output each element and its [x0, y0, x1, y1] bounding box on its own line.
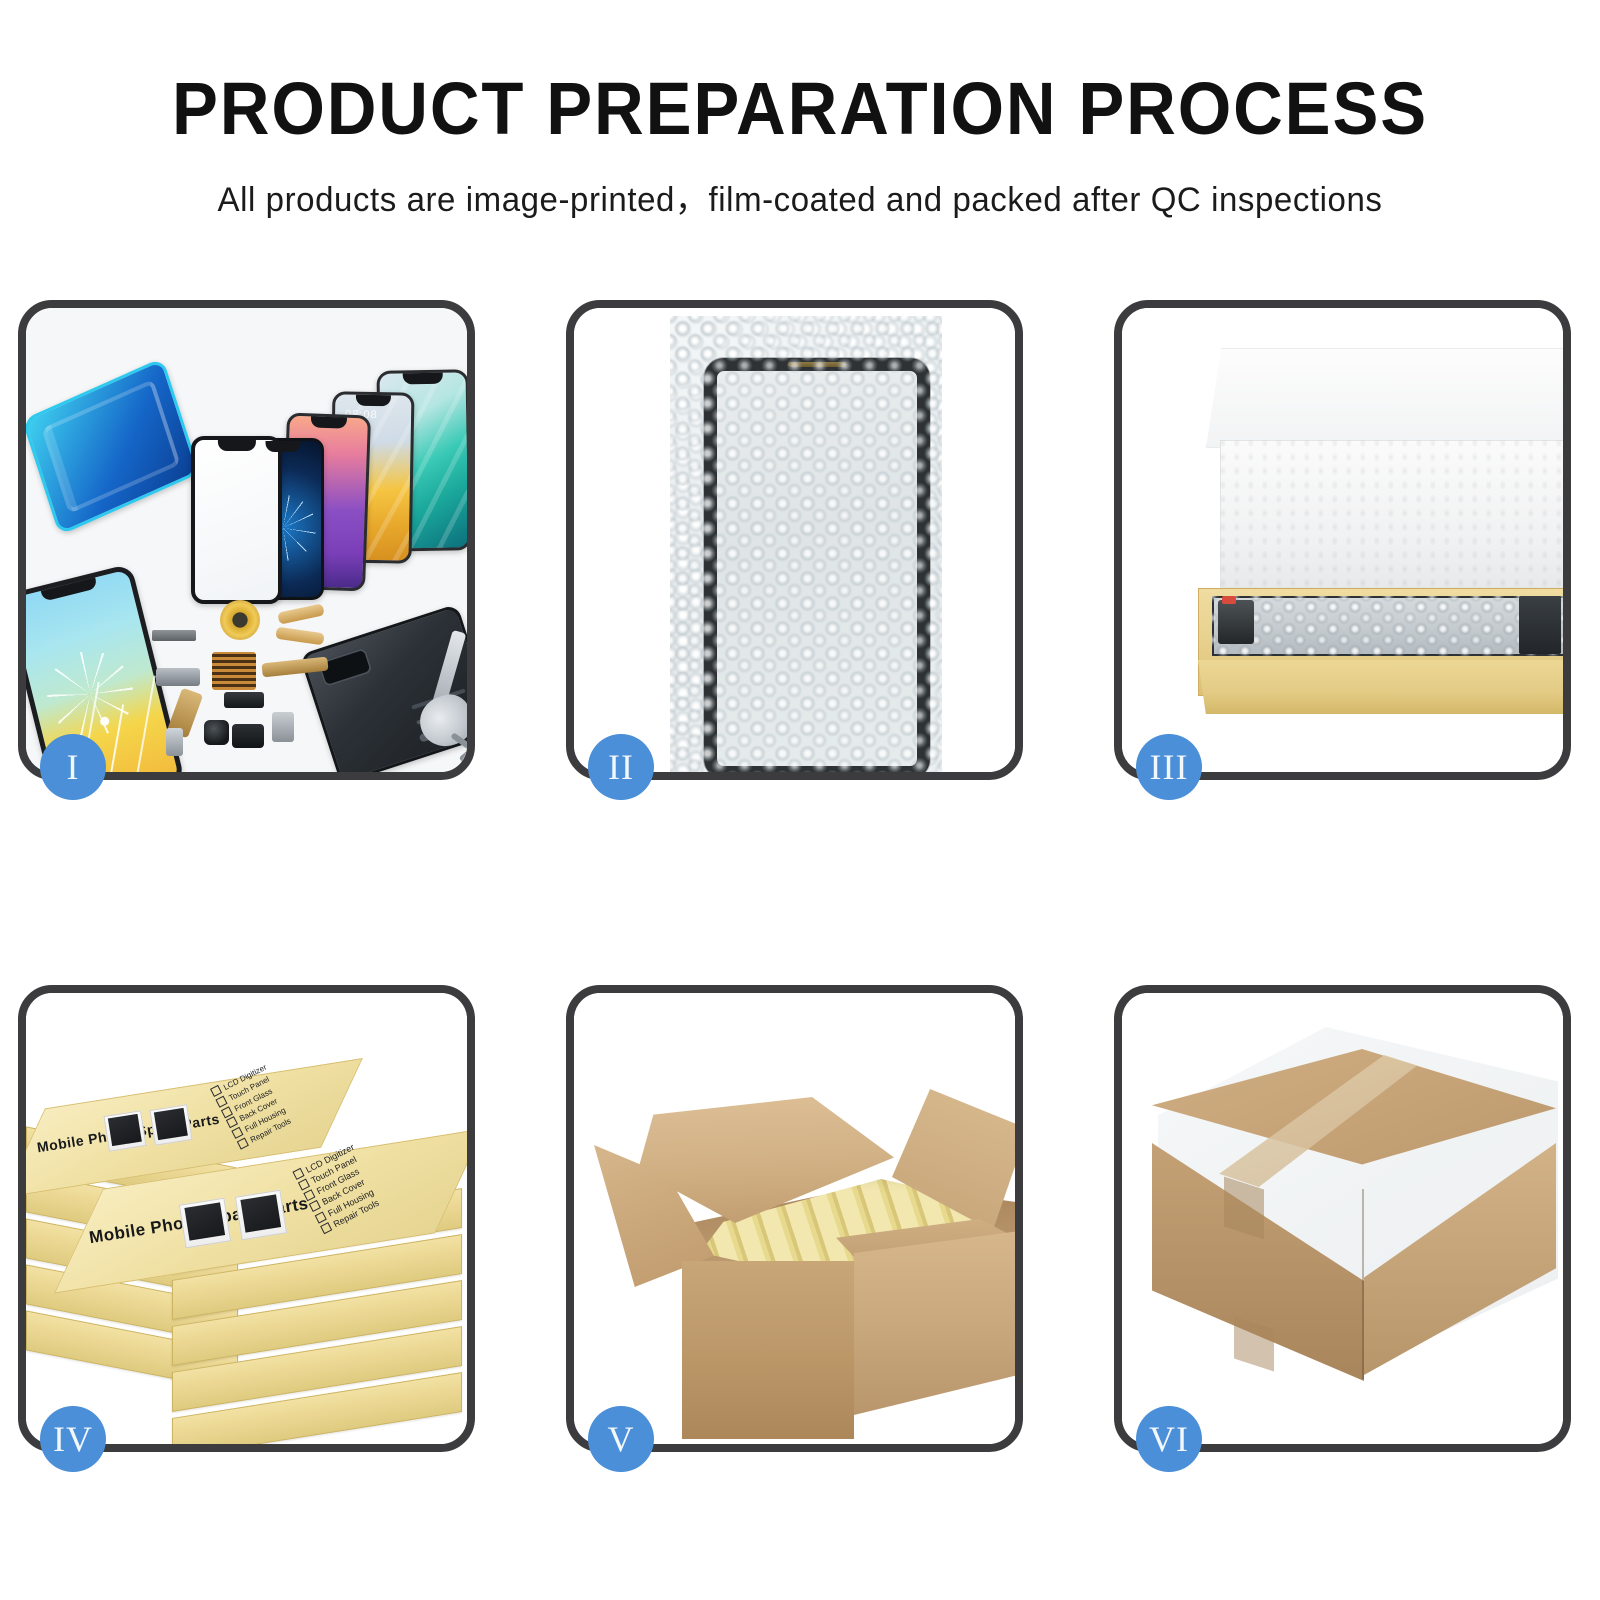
- battery-connector-part: [224, 692, 264, 708]
- process-step-card-4[interactable]: Mobile Phone Spare Parts LCD Digitizer T…: [18, 985, 475, 1452]
- step-number-badge-6: VI: [1136, 1406, 1202, 1472]
- step-1-image: 08:08: [26, 308, 467, 772]
- inner-box-illustration: [1122, 308, 1563, 772]
- process-step-card-6[interactable]: VI: [1114, 985, 1571, 1452]
- process-step-card-3[interactable]: III: [1114, 300, 1571, 780]
- step-6-image: [1122, 993, 1563, 1444]
- box-tray-front-face: [1198, 660, 1563, 714]
- step-4-image: Mobile Phone Spare Parts LCD Digitizer T…: [26, 993, 467, 1444]
- speaker-bar-part: [152, 630, 196, 641]
- box-lid-panel: [1220, 440, 1563, 588]
- step-number-badge-4: IV: [40, 1406, 106, 1472]
- process-step-card-5[interactable]: V: [566, 985, 1023, 1452]
- bubble-wrap-sheet: [670, 316, 942, 772]
- carton-front-face: [682, 1261, 854, 1439]
- camera-module-part: [204, 720, 229, 745]
- phone-front-glass-blank: [191, 436, 282, 604]
- sim-tray-part: [166, 728, 183, 756]
- flex-cable-part: [275, 627, 324, 646]
- phone-notch-icon: [403, 373, 443, 385]
- loudspeaker-part: [232, 724, 264, 748]
- retail-box-thumbnail: [103, 1110, 146, 1152]
- ic-chip-part: [212, 652, 256, 690]
- step-number-badge-1: I: [40, 734, 106, 800]
- sealed-carton-illustration: [1122, 993, 1563, 1444]
- adhesive-frame-part: [26, 357, 200, 535]
- process-step-card-2[interactable]: II: [566, 300, 1023, 780]
- spare-parts-collage-illustration: 08:08: [26, 308, 467, 772]
- wireless-charging-coil-part: [220, 600, 260, 640]
- phone-notch-icon: [266, 441, 301, 452]
- retail-box-stack-illustration: Mobile Phone Spare Parts LCD Digitizer T…: [26, 993, 467, 1444]
- phone-notch-icon: [311, 416, 347, 428]
- box-lid-back-flap: [1206, 348, 1563, 448]
- phone-notch-icon: [217, 440, 255, 451]
- vibration-motor-part: [272, 712, 294, 742]
- carton-side-face: [854, 1231, 1015, 1415]
- bubble-wrap-illustration: [574, 308, 1015, 772]
- wrapped-phone-screen: [704, 358, 930, 772]
- flex-cable-part: [277, 603, 324, 624]
- page-subtitle: All products are image-printed，film-coat…: [24, 172, 1576, 221]
- carton-vertical-edge: [1362, 1189, 1364, 1379]
- step-3-image: [1122, 308, 1563, 772]
- earpiece-slot-icon: [788, 362, 846, 367]
- screen-edge-detail: [1519, 596, 1561, 654]
- retail-box-thumbnail: [149, 1104, 192, 1146]
- box-stack: Mobile Phone Spare Parts LCD Digitizer T…: [26, 1035, 467, 1444]
- process-step-grid: 08:08: [18, 300, 1582, 1460]
- retail-box-thumbnail: [179, 1198, 231, 1249]
- phone-notch-icon: [356, 395, 391, 407]
- connector-part: [156, 668, 200, 686]
- step-number-badge-5: V: [588, 1406, 654, 1472]
- page-header: PRODUCT PREPARATION PROCESS All products…: [0, 0, 1600, 221]
- step-number-badge-2: II: [588, 734, 654, 800]
- screen-flex-connector: [1218, 600, 1254, 644]
- step-5-image: [574, 993, 1015, 1444]
- page-title: PRODUCT PREPARATION PROCESS: [56, 72, 1544, 146]
- process-step-card-1[interactable]: 08:08: [18, 300, 475, 780]
- open-carton-illustration: [574, 993, 1015, 1444]
- step-2-image: [574, 308, 1015, 772]
- step-number-badge-3: III: [1136, 734, 1202, 800]
- retail-box-thumbnail: [235, 1190, 287, 1241]
- packed-wrapped-screen: [1212, 596, 1563, 656]
- phone-notch-icon: [41, 577, 98, 601]
